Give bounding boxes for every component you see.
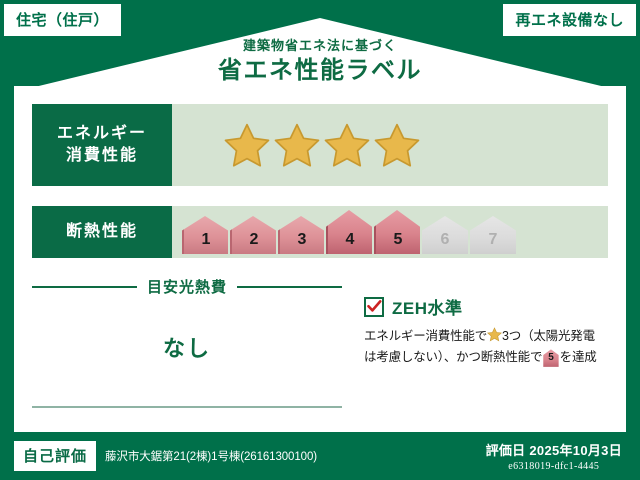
insulation-grade-4: 4 <box>326 210 372 254</box>
insulation-grade-7: 7 <box>470 216 516 254</box>
energy-label-line2: 消費性能 <box>66 145 138 167</box>
insulation-performance-value: 1234567 <box>172 206 608 258</box>
star-rating <box>224 122 420 168</box>
utility-cost-value: なし <box>32 331 342 363</box>
insulation-grade-number: 4 <box>346 231 355 254</box>
star-icon <box>324 122 370 168</box>
inline-star-icon <box>487 327 502 348</box>
zeh-desc-part3: は考慮しない）、かつ断熱性能で <box>364 350 542 364</box>
insulation-grade-number: 1 <box>202 231 211 254</box>
insulation-grade-2: 2 <box>230 216 276 254</box>
evaluation-date: 評価日 2025年10月3日 <box>486 440 622 459</box>
energy-performance-row: エネルギー 消費性能 <box>32 104 608 186</box>
badge-renewable-equipment: 再エネ設備なし <box>503 4 636 36</box>
insulation-grade-number: 3 <box>298 231 307 254</box>
insulation-performance-label: 断熱性能 <box>32 206 172 258</box>
star-icon <box>374 122 420 168</box>
zeh-description: エネルギー消費性能で 3つ（太陽光発電 は考慮しない）、かつ断熱性能で5を達成 <box>364 327 608 368</box>
badge-building-type: 住宅（住戸） <box>4 4 121 36</box>
insulation-grade-number: 7 <box>489 231 498 254</box>
insulation-grade-3: 3 <box>278 216 324 254</box>
insulation-grade-scale: 1234567 <box>182 206 518 258</box>
inline-grade-badge: 5 <box>543 349 558 367</box>
utility-cost-panel: 目安光熱費 なし <box>32 274 342 424</box>
star-icon <box>224 122 270 168</box>
zeh-panel: ZEH水準 エネルギー消費性能で 3つ（太陽光発電 は考慮しない）、かつ断熱性能… <box>342 274 608 424</box>
insulation-grade-number: 5 <box>394 231 403 254</box>
property-address: 藤沢市大鋸第21(2棟)1号棟(26161300100) <box>105 448 317 464</box>
insulation-grade-number: 2 <box>250 231 259 254</box>
label-content: エネルギー 消費性能 断熱性能 1234567 目安光熱費 なし <box>32 104 608 416</box>
zeh-desc-part1: エネルギー消費性能で <box>364 329 487 343</box>
star-icon <box>274 122 320 168</box>
rule-left <box>32 286 137 288</box>
insulation-grade-1: 1 <box>182 216 228 254</box>
zeh-title: ZEH水準 <box>392 294 463 319</box>
label-footer: 自己評価 藤沢市大鋸第21(2棟)1号棟(26161300100) 評価日 20… <box>0 432 640 480</box>
utility-cost-heading: 目安光熱費 <box>32 276 342 297</box>
footer-left-group: 自己評価 藤沢市大鋸第21(2棟)1号棟(26161300100) <box>14 441 486 471</box>
utility-cost-bottom-rule <box>32 406 342 408</box>
zeh-checkbox[interactable] <box>364 297 384 317</box>
zeh-desc-part2: 3つ（太陽光発電 <box>502 329 595 343</box>
energy-performance-label: エネルギー 消費性能 <box>32 104 172 186</box>
insulation-grade-5: 5 <box>374 210 420 254</box>
evaluation-id: e6318019-dfc1-4445 <box>486 461 622 472</box>
energy-performance-value <box>172 104 608 186</box>
insulation-performance-row: 断熱性能 1234567 <box>32 206 608 258</box>
utility-cost-heading-text: 目安光熱費 <box>137 276 237 297</box>
lower-section: 目安光熱費 なし ZEH水準 エネルギー消費性能で <box>32 274 608 424</box>
insulation-grade-6: 6 <box>422 216 468 254</box>
zeh-desc-part4: を達成 <box>560 350 597 364</box>
rule-right <box>237 286 342 288</box>
energy-performance-label: 住宅（住戸） 再エネ設備なし 建築物省エネ法に基づく 省エネ性能ラベル エネルギ… <box>0 0 640 480</box>
zeh-heading: ZEH水準 <box>364 294 608 319</box>
footer-right-group: 評価日 2025年10月3日 e6318019-dfc1-4445 <box>486 440 626 472</box>
self-evaluation-badge: 自己評価 <box>14 441 96 471</box>
insulation-grade-number: 6 <box>441 231 450 254</box>
energy-label-line1: エネルギー <box>57 123 147 145</box>
check-icon <box>367 300 382 313</box>
